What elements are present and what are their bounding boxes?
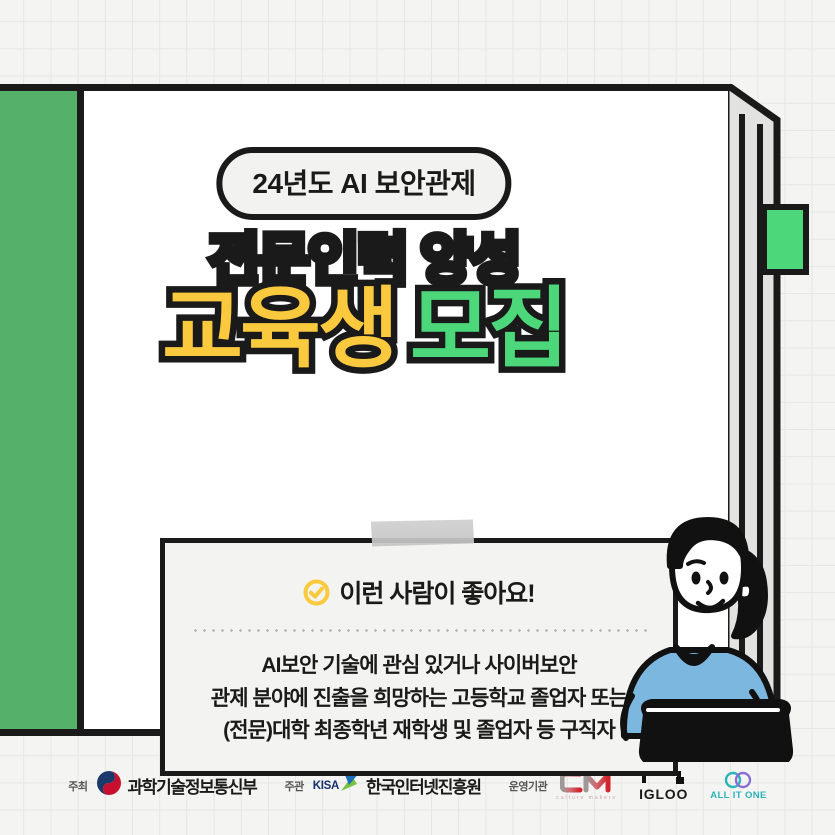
taegeuk-icon xyxy=(96,770,122,801)
woman-with-laptop-illustration xyxy=(612,500,812,762)
msit-name: 과학기술정보통신부 xyxy=(127,773,256,798)
dotted-divider xyxy=(191,629,647,632)
footer-group-organizer: 주관 KISA 한국인터넷진흥원 xyxy=(285,773,481,798)
badge-label: 24년도 AI 보안관제 xyxy=(216,147,511,220)
igloo-name: IGLOO xyxy=(639,786,688,802)
requirements-line-3: (전문)대학 최종학년 재학생 및 졸업자 등 구직자 xyxy=(165,715,673,748)
requirements-line-2: 관제 분야에 진출을 희망하는 고등학교 졸업자 또는 xyxy=(165,683,673,716)
kisa-name: 한국인터넷진흥원 xyxy=(366,773,481,798)
spine-green-tab xyxy=(761,204,809,275)
all-it-one-logo: ALL IT ONE xyxy=(710,771,767,801)
title-word-recruit: 모집 xyxy=(410,283,566,375)
poster-title-line2: 교육생모집 xyxy=(0,283,728,375)
washi-tape xyxy=(370,519,474,546)
left-green-panel xyxy=(0,91,84,729)
cm-subtitle: culture makers xyxy=(556,795,617,801)
kisa-logo: KISA 한국인터넷진흥원 xyxy=(313,773,481,798)
requirements-body: AI보안 기술에 관심 있거나 사이버보안 관제 분야에 진출을 희망하는 고등… xyxy=(165,650,673,748)
kisa-arrow-icon xyxy=(339,773,361,798)
all-it-one-name: ALL IT ONE xyxy=(710,790,767,801)
requirements-heading-row: 이런 사람이 좋아요! xyxy=(165,574,673,610)
all-it-one-circles-icon xyxy=(719,771,757,789)
check-circle-icon xyxy=(303,579,330,606)
requirements-line-1: AI보안 기술에 관심 있거나 사이버보안 xyxy=(165,650,673,683)
footer-label-operator: 운영기관 xyxy=(509,778,547,794)
requirements-heading: 이런 사람이 좋아요! xyxy=(339,574,534,610)
title-word-education: 교육생 xyxy=(162,283,396,375)
kisa-mark: KISA xyxy=(313,780,339,792)
footer-label-host: 주최 xyxy=(68,778,87,794)
requirements-box: 이런 사람이 좋아요! AI보안 기술에 관심 있거나 사이버보안 관제 분야에… xyxy=(160,538,678,776)
footer-label-organizer: 주관 xyxy=(285,778,304,794)
